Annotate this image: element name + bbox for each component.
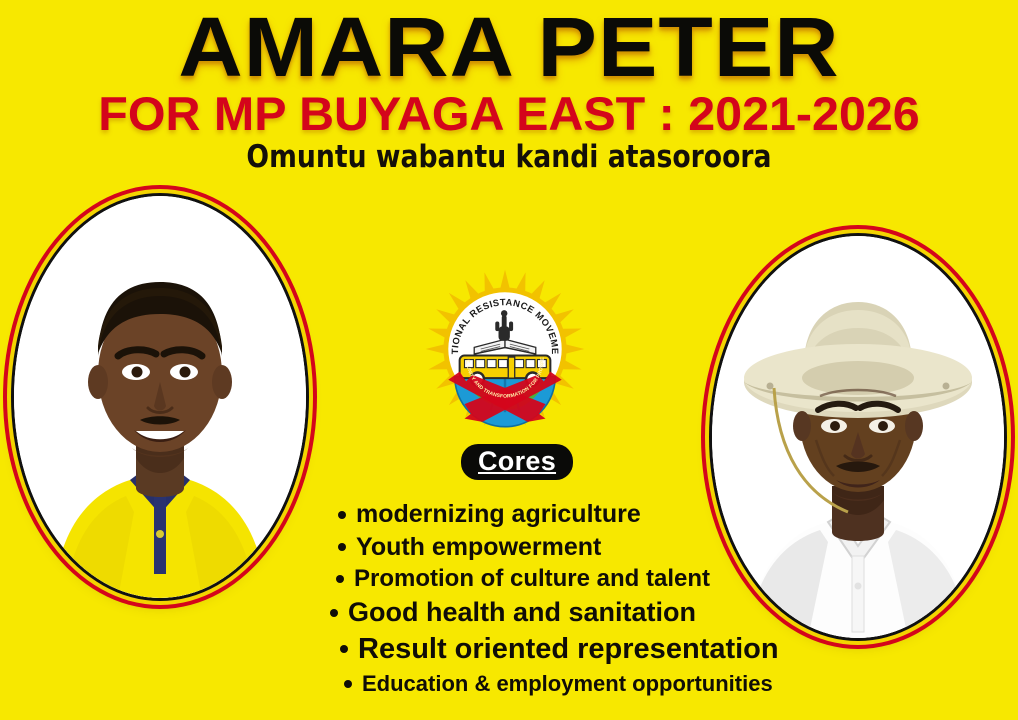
cores-heading-label: Cores	[478, 446, 556, 476]
campaign-poster: AMARA PETER FOR MP BUYAGA EAST : 2021-20…	[0, 0, 1018, 720]
list-item: Promotion of culture and talent	[318, 563, 838, 595]
cores-heading: Cores	[461, 444, 573, 480]
core-item-label: modernizing agriculture	[356, 500, 641, 529]
candidate-portrait	[14, 196, 306, 598]
list-item: modernizing agriculture	[318, 498, 838, 531]
bullet-dot-icon	[338, 543, 346, 551]
candidate-photo-illustration	[14, 196, 306, 598]
candidate-name: AMARA PETER	[0, 6, 1018, 88]
core-item-label: Youth empowerment	[356, 533, 601, 562]
nrm-emblem-illustration: NATIONAL RESISTANCE MOVEMENT	[424, 268, 586, 430]
bullet-dot-icon	[330, 609, 338, 617]
candidate-photo	[14, 196, 306, 598]
core-item-label: Result oriented representation	[358, 633, 779, 666]
poster-header: AMARA PETER FOR MP BUYAGA EAST : 2021-20…	[0, 0, 1018, 174]
core-item-label: Education & employment opportunities	[362, 671, 773, 697]
core-item-label: Promotion of culture and talent	[354, 565, 710, 593]
bullet-dot-icon	[344, 680, 352, 688]
bullet-dot-icon	[340, 645, 348, 653]
core-item-label: Good health and sanitation	[348, 597, 696, 628]
bullet-dot-icon	[336, 575, 344, 583]
list-item: Education & employment opportunities	[318, 668, 838, 700]
campaign-slogan: Omuntu wabantu kandi atasoroora	[71, 141, 946, 174]
list-item: Result oriented representation	[318, 630, 838, 668]
nrm-emblem-icon: NATIONAL RESISTANCE MOVEMENT	[424, 268, 586, 430]
bullet-dot-icon	[338, 511, 346, 519]
office-and-term: FOR MP BUYAGA EAST : 2021-2026	[0, 90, 1018, 137]
list-item: Good health and sanitation	[318, 595, 838, 630]
cores-list: modernizing agriculture Youth empowermen…	[318, 498, 838, 700]
list-item: Youth empowerment	[318, 531, 838, 563]
